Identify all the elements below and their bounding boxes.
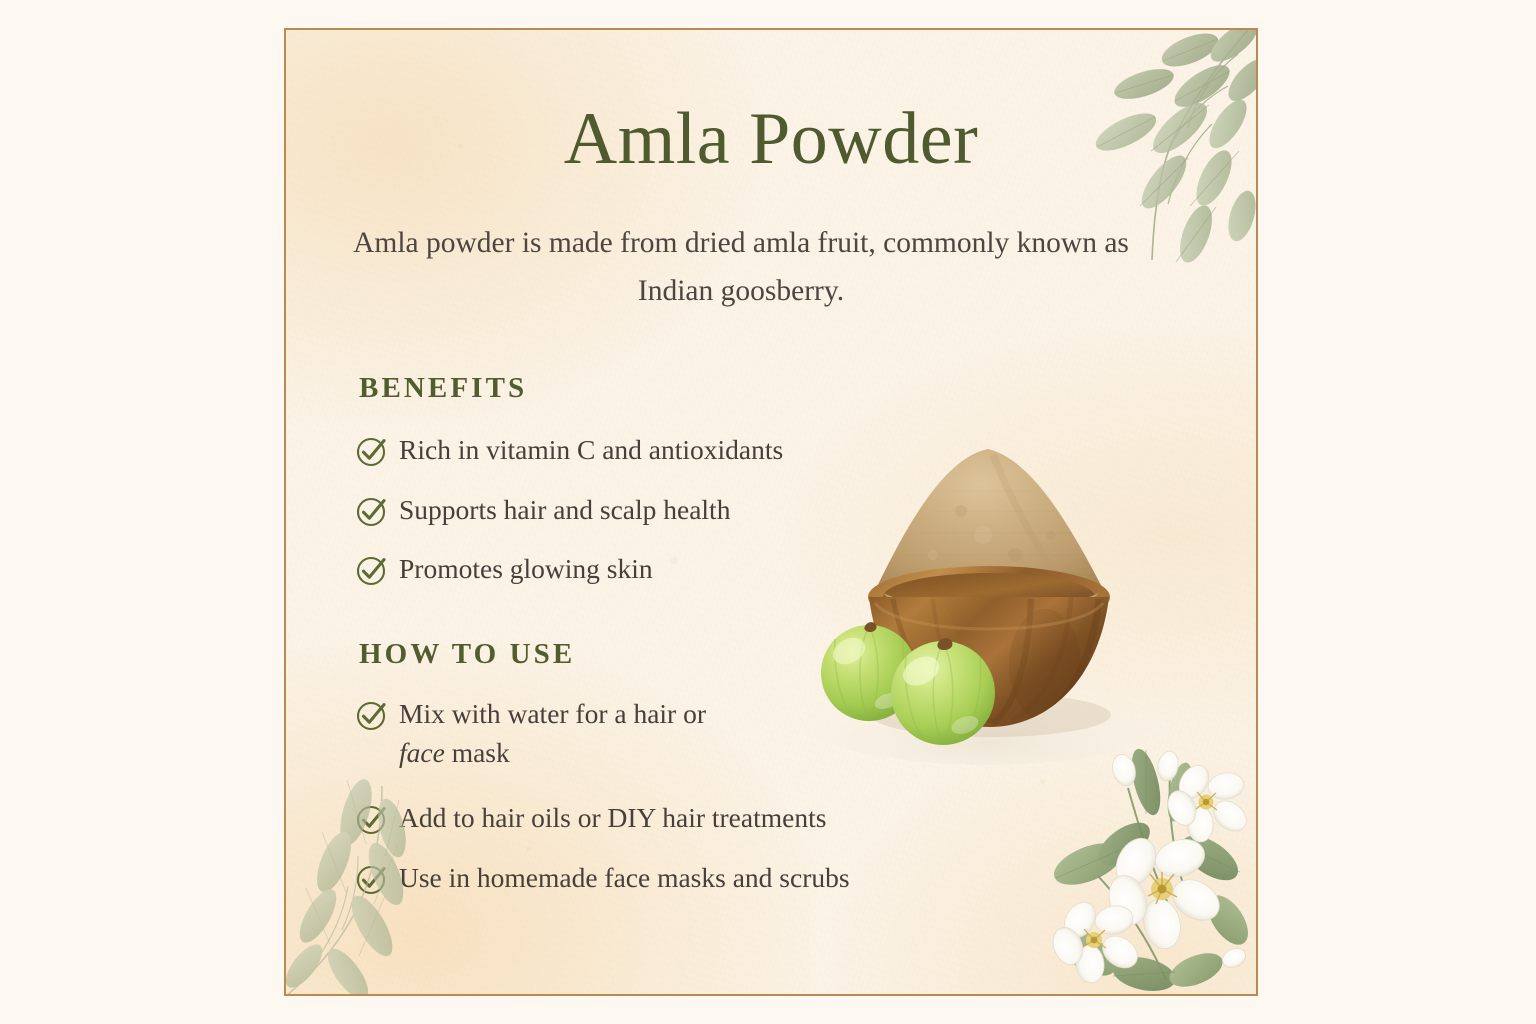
infographic-canvas: Amla Powder Amla powder is made from dri…	[0, 0, 1536, 1024]
list-item: Use in homemade face masks and scrubs	[355, 858, 850, 898]
list-item: Add to hair oils or DIY hair treatments	[355, 798, 850, 838]
list-item: Promotes glowing skin	[355, 549, 783, 589]
list-item-label: Rich in vitamin C and antioxidants	[399, 430, 783, 470]
list-item-label: Add to hair oils or DIY hair treatments	[399, 798, 826, 838]
product-photo	[783, 415, 1203, 775]
check-circle-icon	[355, 553, 389, 587]
check-circle-icon	[355, 698, 389, 732]
list-item: Supports hair and scalp health	[355, 490, 783, 530]
list-item: Rich in vitamin C and antioxidants	[355, 430, 783, 470]
list-item-label: Promotes glowing skin	[399, 549, 653, 589]
list-item-text-after: mask	[445, 737, 510, 768]
amla-powder-card: Amla Powder Amla powder is made from dri…	[284, 28, 1258, 996]
how-to-use-list: Mix with water for a hair or face mask A…	[355, 694, 850, 917]
page-title: Amla Powder	[286, 102, 1256, 176]
benefits-list: Rich in vitamin C and antioxidants Suppo…	[355, 430, 783, 609]
list-item-label-wrapped: Mix with water for a hair or face mask	[399, 694, 744, 772]
list-item-label: Use in homemade face masks and scrubs	[399, 858, 850, 898]
list-item: Mix with water for a hair or face mask	[355, 694, 850, 772]
check-circle-icon	[355, 802, 389, 836]
check-circle-icon	[355, 434, 389, 468]
flower-large	[1103, 831, 1227, 952]
list-item-emphasis: face	[399, 737, 445, 768]
flower-buds	[1109, 749, 1249, 971]
benefits-heading: BENEFITS	[359, 372, 527, 405]
check-circle-icon	[355, 862, 389, 896]
list-item-text-before: Mix with water for a hair or	[399, 698, 706, 729]
jasmine-flowers-bottom-right	[1028, 748, 1258, 996]
list-item-label: Supports hair and scalp health	[399, 490, 730, 530]
check-circle-icon	[355, 494, 389, 528]
how-to-use-heading: HOW TO USE	[359, 638, 575, 671]
flower-small-left	[1048, 896, 1144, 984]
page-subtitle: Amla powder is made from dried amla frui…	[346, 220, 1136, 316]
